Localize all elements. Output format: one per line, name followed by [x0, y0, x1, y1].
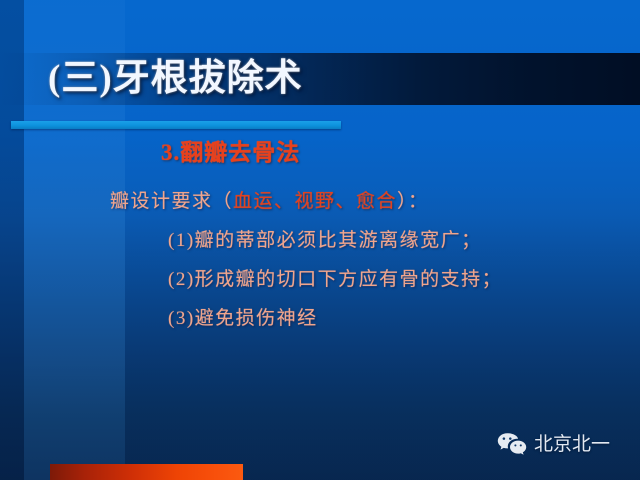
- bottom-accent-bar: [50, 464, 243, 480]
- body-item-3: (3)避免损伤神经: [0, 299, 640, 338]
- body-item-2: (2)形成瓣的切口下方应有骨的支持；: [0, 260, 640, 299]
- wechat-icon: [497, 432, 527, 458]
- slide-body: 瓣设计要求（血运、视野、愈合）： (1)瓣的蒂部必须比其游离缘宽广； (2)形成…: [0, 182, 640, 338]
- body-heading-suffix: ）：: [397, 191, 429, 212]
- body-heading-emphasis: 血运、视野、愈合: [233, 191, 397, 212]
- body-heading-prefix: 瓣设计要求（: [110, 191, 233, 212]
- watermark: 北京北一: [497, 432, 610, 458]
- body-item-1: (1)瓣的蒂部必须比其游离缘宽广；: [0, 221, 640, 260]
- accent-divider-rule: [11, 121, 341, 129]
- watermark-label: 北京北一: [534, 434, 610, 456]
- slide-title: (三)牙根拔除术: [48, 56, 303, 102]
- slide-subheading: 3.翻瓣去骨法: [161, 138, 300, 168]
- presentation-slide: (三)牙根拔除术 3.翻瓣去骨法 瓣设计要求（血运、视野、愈合）： (1)瓣的蒂…: [0, 0, 640, 480]
- body-heading-line: 瓣设计要求（血运、视野、愈合）：: [0, 182, 640, 221]
